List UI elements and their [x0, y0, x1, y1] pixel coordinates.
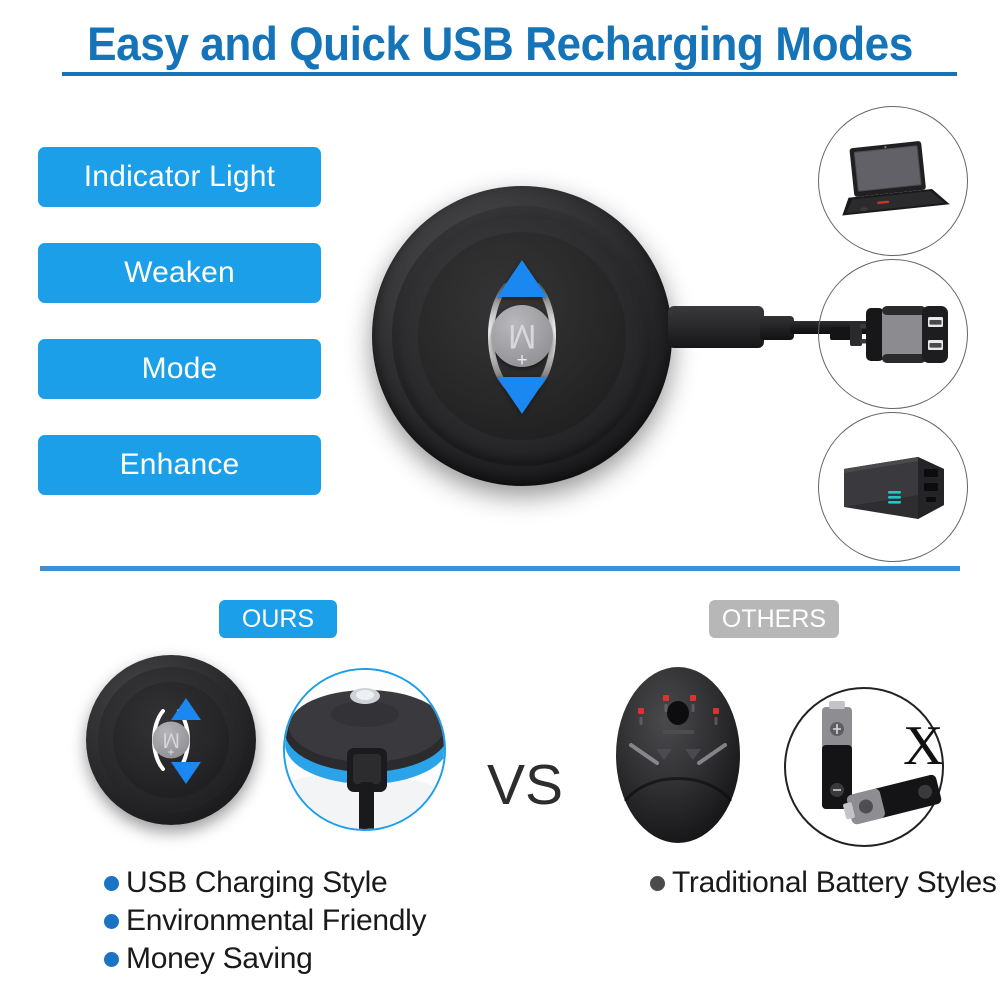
- main-device-image: - M +: [372, 186, 672, 486]
- charging-source-laptop: [818, 106, 968, 256]
- section-divider: [40, 566, 960, 571]
- others-drawbacks-list: Traditional Battery Styles: [650, 866, 997, 904]
- charging-source-wall-charger: [818, 259, 968, 409]
- ours-benefit-label: USB Charging Style: [126, 866, 387, 900]
- ours-enhance-button-icon: [171, 762, 201, 784]
- bullet-dot-icon: [104, 876, 119, 891]
- bullet-dot-icon: [104, 952, 119, 967]
- enhance-down-button-icon[interactable]: [497, 377, 547, 414]
- feature-badge-weaken[interactable]: Weaken: [38, 243, 321, 303]
- bullet-dot-icon: [650, 876, 665, 891]
- feature-badge-mode[interactable]: Mode: [38, 339, 321, 399]
- ours-weaken-button-icon: [171, 698, 201, 720]
- feature-badge-list: Indicator Light Weaken Mode Enhance: [38, 147, 321, 531]
- page-title: Easy and Quick USB Recharging Modes: [30, 16, 970, 71]
- vs-label: VS: [487, 752, 563, 818]
- ours-tag: OURS: [219, 600, 337, 638]
- feature-badge-enhance[interactable]: Enhance: [38, 435, 321, 495]
- ours-benefit-label: Money Saving: [126, 942, 313, 976]
- ours-device-image: - M +: [86, 655, 256, 825]
- feature-badge-indicator-light[interactable]: Indicator Light: [38, 147, 321, 207]
- cross-mark-icon: X: [903, 718, 943, 774]
- oval-massager-icon: [601, 663, 756, 848]
- others-drawback-label: Traditional Battery Styles: [672, 866, 997, 900]
- ours-benefits-list: USB Charging Style Environmental Friendl…: [104, 866, 426, 980]
- power-bank-icon: [832, 445, 954, 529]
- list-item: Traditional Battery Styles: [650, 866, 997, 900]
- usb-cable-neck: [760, 316, 794, 340]
- wall-charger-icon: [830, 294, 956, 374]
- mode-button-label: M: [508, 319, 536, 353]
- ours-benefit-label: Environmental Friendly: [126, 904, 426, 938]
- list-item: Money Saving: [104, 942, 426, 976]
- laptop-icon: [831, 138, 955, 224]
- others-tag: OTHERS: [709, 600, 839, 638]
- charging-source-power-bank: [818, 412, 968, 562]
- others-device-image: [601, 663, 756, 848]
- ours-plus-sign: +: [167, 746, 174, 758]
- usb-port-icon: [285, 670, 446, 831]
- device-inner-face: - M +: [418, 232, 626, 440]
- page-title-wrap: Easy and Quick USB Recharging Modes: [0, 16, 1000, 71]
- usb-port-closeup: [283, 668, 446, 831]
- plus-sign: +: [516, 351, 527, 370]
- list-item: USB Charging Style: [104, 866, 426, 900]
- title-underline: [62, 72, 957, 76]
- ours-device-inner-face: - M +: [113, 682, 229, 798]
- infographic-page: Easy and Quick USB Recharging Modes Indi…: [0, 0, 1000, 1000]
- bullet-dot-icon: [104, 914, 119, 929]
- weaken-up-button-icon[interactable]: [497, 260, 547, 297]
- list-item: Environmental Friendly: [104, 904, 426, 938]
- usb-connector-head-icon: [668, 306, 764, 348]
